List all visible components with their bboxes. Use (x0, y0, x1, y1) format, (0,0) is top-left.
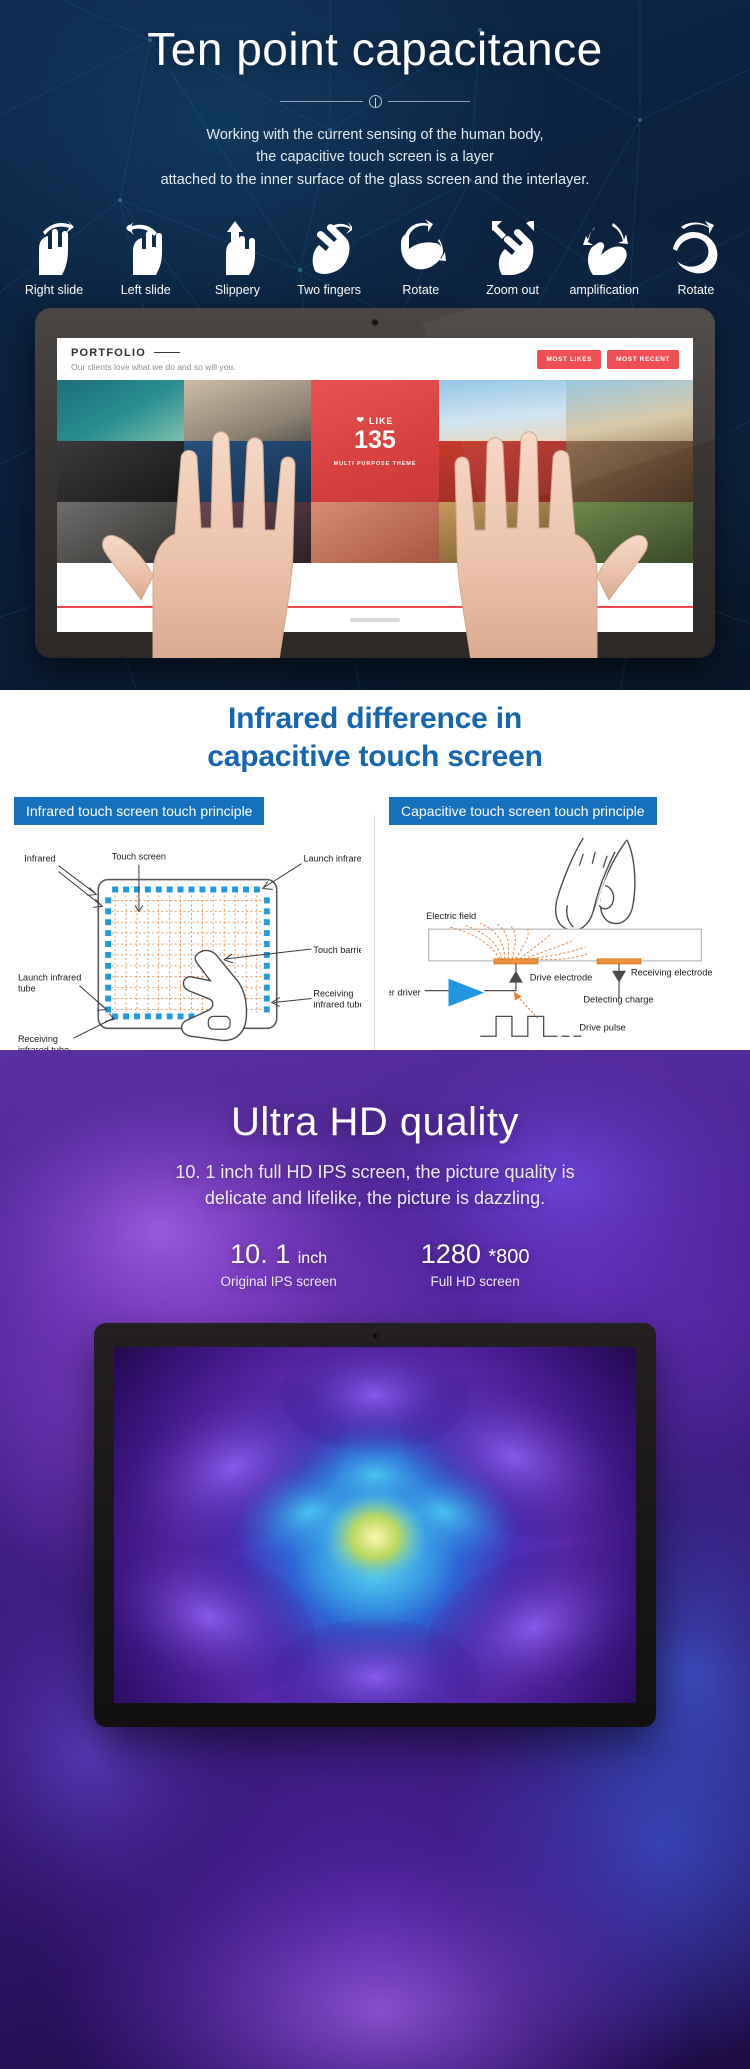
portfolio-tile[interactable] (184, 441, 311, 502)
gesture-label: Zoom out (471, 283, 555, 297)
portfolio-filter-buttons: MOST LIKES MOST RECENT (537, 350, 679, 369)
spec-value-row: 10. 1 inch (220, 1239, 336, 1270)
flower-core (323, 1491, 427, 1583)
portfolio-brand: PORTFOLIO Our clients love what we do an… (71, 347, 235, 372)
gesture-item-rotate-alt: Rotate (654, 217, 738, 297)
hand-rotate-icon (379, 217, 463, 275)
like-row: ❤ LIKE (356, 415, 393, 426)
hand-pinch-open-icon (562, 217, 646, 275)
spec-value: 1280 (421, 1239, 481, 1269)
label-detecting-charge: Detecting charge (583, 995, 653, 1005)
hand-left-slide-icon (104, 217, 188, 275)
hand-zoom-out-icon (471, 217, 555, 275)
gesture-item-two-fingers: Two fingers (287, 217, 371, 297)
portfolio-footer (57, 606, 693, 632)
portfolio-tile[interactable] (439, 502, 566, 563)
portfolio-tagline: Our clients love what we do and so will … (71, 362, 235, 372)
gesture-label: Slippery (195, 283, 279, 297)
capacitive-panel-tag: Capacitive touch screen touch principle (389, 797, 657, 825)
capacitive-diagram: Electric field Drive electrode Receiving… (389, 831, 736, 1061)
scroll-indicator[interactable] (350, 618, 400, 622)
ultra-hd-subtitle: 10. 1 inch full HD IPS screen, the pictu… (0, 1159, 750, 1211)
portfolio-tile[interactable] (439, 441, 566, 502)
page-title: Ten point capacitance (0, 0, 750, 76)
ultra-hd-tablet-showcase (94, 1323, 656, 1727)
flower-wallpaper-graphic (114, 1347, 636, 1703)
infrared-principle-panel: Infrared touch screen touch principle (0, 797, 375, 1061)
portfolio-tile[interactable] (439, 380, 566, 441)
drive-pulse-waveform (480, 1016, 557, 1036)
infrared-diagram: Touch screen Infrared Launch infrared tu… (14, 831, 361, 1061)
gesture-label: Two fingers (287, 283, 371, 297)
ten-point-capacitance-section: Ten point capacitance Working with the c… (0, 0, 750, 690)
spec-caption: Original IPS screen (220, 1274, 336, 1289)
label-receiving-tube-right: Receiving (313, 989, 353, 999)
ultra-hd-content: Ultra HD quality 10. 1 inch full HD IPS … (0, 1050, 750, 1289)
most-likes-button[interactable]: MOST LIKES (537, 350, 601, 369)
gesture-item-amplification: amplification (562, 217, 646, 297)
portfolio-tile[interactable] (184, 380, 311, 441)
portfolio-tile-featured[interactable]: ❤ LIKE 135 MULTI PURPOSE THEME (311, 380, 438, 502)
tablet-showcase: PORTFOLIO Our clients love what we do an… (35, 308, 715, 658)
theme-tag: MULTI PURPOSE THEME (334, 461, 417, 467)
most-recent-button[interactable]: MOST RECENT (607, 350, 679, 369)
front-camera-icon (372, 319, 379, 326)
spec-screen-size: 10. 1 inch Original IPS screen (220, 1239, 336, 1289)
portfolio-grid: ❤ LIKE 135 MULTI PURPOSE THEME (57, 380, 693, 563)
heart-icon: ❤ (356, 415, 365, 426)
portfolio-tile[interactable] (57, 441, 184, 502)
divider-line-right (388, 101, 471, 102)
gesture-item-left-slide: Left slide (104, 217, 188, 297)
gesture-label: Right slide (12, 283, 96, 297)
label-launch-tube-top: Launch infrared tube (303, 854, 361, 864)
ultra-hd-subtitle-line-2: delicate and lifelike, the picture is da… (0, 1185, 750, 1211)
infrared-panel-tag: Infrared touch screen touch principle (14, 797, 264, 825)
front-camera-icon (372, 1333, 378, 1339)
hand-rotate-alt-icon (654, 217, 738, 275)
infrared-title-line-2: capacitive touch screen (0, 738, 750, 776)
hand-swipe-up-icon (195, 217, 279, 275)
spec-unit: *800 (488, 1246, 529, 1268)
label-infrared: Infrared (24, 854, 55, 864)
principle-panels: Infrared touch screen touch principle (0, 797, 750, 1061)
label-receiving-electrode: Receiving electrode (631, 968, 713, 978)
gesture-label: Left slide (104, 283, 188, 297)
label-receiving-tube-bottom: Receiving (18, 1034, 58, 1044)
glass-layer (429, 929, 702, 961)
portfolio-tile[interactable] (566, 502, 693, 563)
title-rule (154, 352, 180, 354)
portfolio-tile[interactable] (566, 441, 693, 502)
buffer-driver-amp-icon (448, 979, 484, 1007)
section-title-infrared: Infrared difference in capacitive touch … (0, 700, 750, 775)
label-buffer-driver: Buffer driver (389, 988, 421, 998)
page-subtitle: Working with the current sensing of the … (0, 124, 750, 191)
like-label: LIKE (369, 416, 394, 426)
gesture-item-right-slide: Right slide (12, 217, 96, 297)
portfolio-title: PORTFOLIO (71, 347, 146, 359)
gesture-label: amplification (562, 283, 646, 297)
portfolio-tile[interactable] (57, 380, 184, 441)
tablet-device-hd (94, 1323, 656, 1727)
receiving-electrode-bar (597, 959, 641, 964)
spec-resolution: 1280 *800 Full HD screen (421, 1239, 530, 1289)
title-divider (280, 92, 470, 110)
label-drive-pulse: Drive pulse (579, 1022, 626, 1032)
tablet-screen-hd (114, 1347, 636, 1703)
hand-two-finger-icon (287, 217, 371, 275)
spec-list: 10. 1 inch Original IPS screen 1280 *800… (0, 1239, 750, 1289)
subtitle-line-1: Working with the current sensing of the … (0, 124, 750, 146)
gesture-item-rotate: Rotate (379, 217, 463, 297)
screen-outline (98, 880, 276, 1029)
label-receiving-tube-right-2: infrared tube (313, 999, 361, 1009)
label-touch-barrier: Touch barrier (313, 945, 361, 955)
gesture-label: Rotate (654, 283, 738, 297)
portfolio-tile[interactable] (184, 502, 311, 563)
receive-arrow-icon (612, 971, 626, 983)
portfolio-tile[interactable] (57, 502, 184, 563)
drive-electrode-bar (494, 959, 538, 964)
infrared-title-line-1: Infrared difference in (0, 700, 750, 738)
hand-right-slide-icon (12, 217, 96, 275)
gesture-label: Rotate (379, 283, 463, 297)
label-touch-screen: Touch screen (112, 852, 166, 862)
label-launch-tube-left-2: tube (18, 984, 36, 994)
ultra-hd-title: Ultra HD quality (0, 1100, 750, 1145)
spec-caption: Full HD screen (421, 1274, 530, 1289)
portfolio-tile[interactable] (311, 502, 438, 563)
portfolio-tile[interactable] (566, 380, 693, 441)
spec-value: 10. 1 (230, 1239, 290, 1269)
hand-touch-icon (556, 838, 635, 930)
gesture-list: Right slide Left slide Slippery (0, 217, 750, 297)
subtitle-line-2: the capacitive touch screen is a layer (0, 146, 750, 168)
spec-unit: inch (298, 1250, 327, 1267)
ultra-hd-section: Ultra HD quality 10. 1 inch full HD IPS … (0, 1050, 750, 2069)
label-launch-tube-left: Launch infrared (18, 973, 81, 983)
divider-line-left (280, 101, 363, 102)
label-drive-electrode: Drive electrode (530, 973, 593, 983)
portfolio-title-row: PORTFOLIO (71, 347, 235, 359)
divider-diamond-icon (369, 95, 382, 108)
subtitle-line-3: attached to the inner surface of the gla… (0, 169, 750, 191)
gesture-item-slippery: Slippery (195, 217, 279, 297)
infrared-difference-section: Infrared difference in capacitive touch … (0, 690, 750, 1050)
capacitive-principle-panel: Capacitive touch screen touch principle (375, 797, 750, 1061)
tablet-screen: PORTFOLIO Our clients love what we do an… (57, 338, 693, 632)
spec-value-row: 1280 *800 (421, 1239, 530, 1270)
gesture-item-zoom-out: Zoom out (471, 217, 555, 297)
like-count: 135 (354, 427, 396, 455)
drive-arrow-icon (509, 971, 523, 983)
tablet-device: PORTFOLIO Our clients love what we do an… (35, 308, 715, 658)
ultra-hd-subtitle-line-1: 10. 1 inch full HD IPS screen, the pictu… (0, 1159, 750, 1185)
label-electric-field: Electric field (426, 911, 476, 921)
portfolio-header: PORTFOLIO Our clients love what we do an… (57, 338, 693, 380)
